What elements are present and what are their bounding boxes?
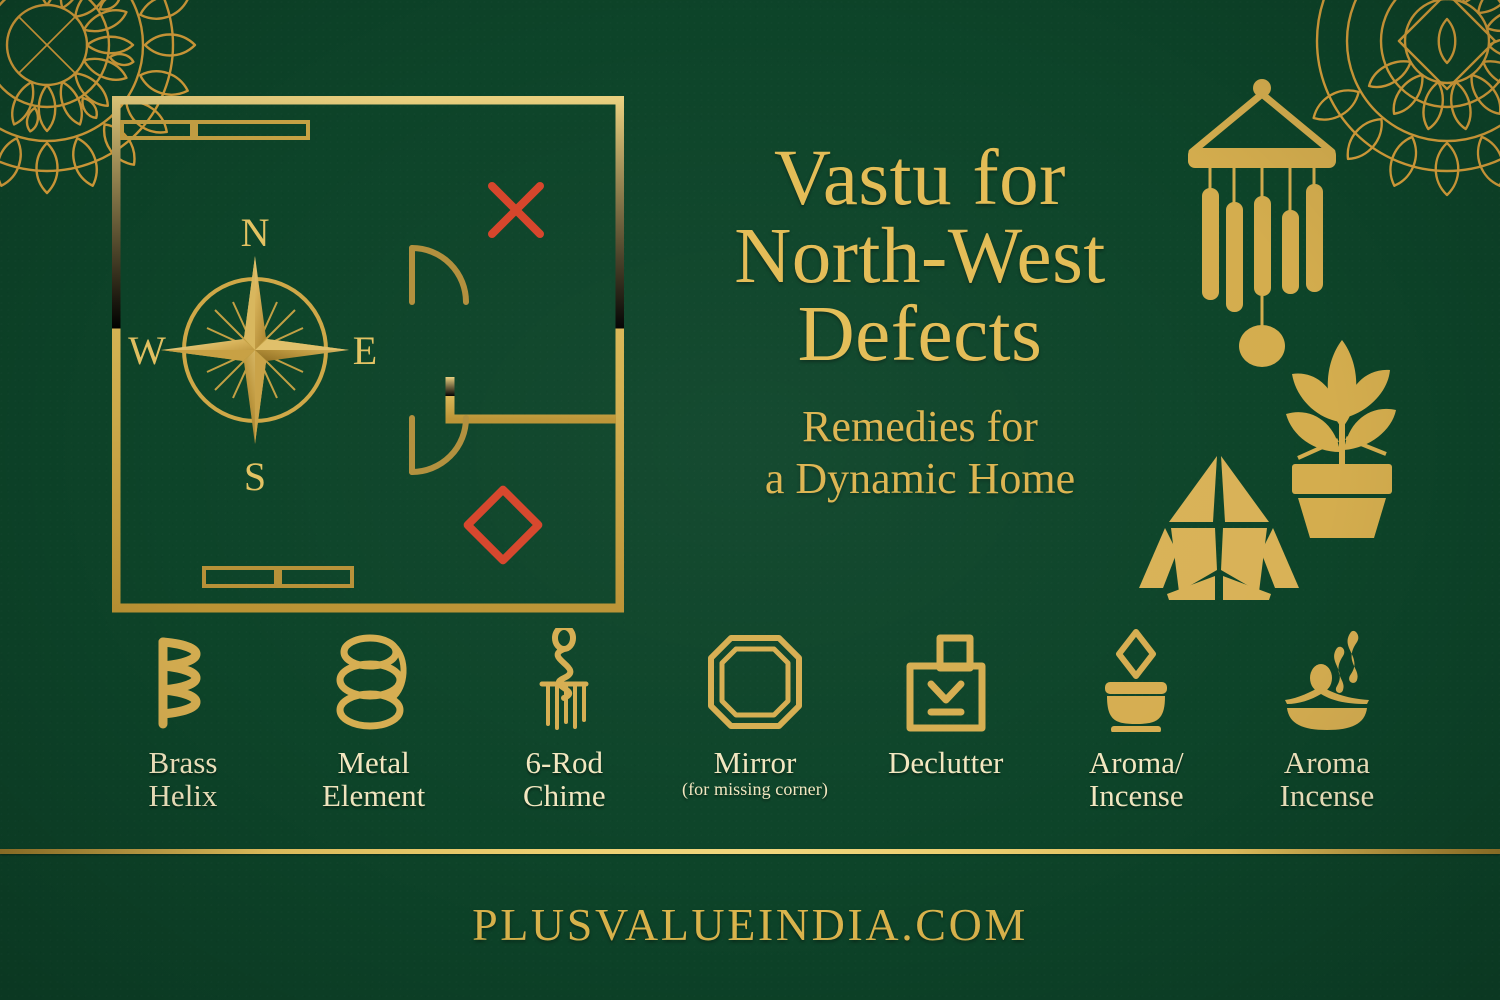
remedy-item-aroma-incense-lamp[interactable]: Aroma Incense [1234, 628, 1420, 812]
subtitle-line-2: a Dynamic Home [660, 453, 1180, 505]
remedy-label-line-1: Declutter [888, 745, 1003, 780]
remedy-label-line-2: Chime [523, 779, 606, 812]
remedy-label-line-1: Aroma [1284, 745, 1370, 780]
subtitle-line-1: Remedies for [660, 401, 1180, 453]
defect-diamond-marker [468, 490, 539, 561]
remedy-label-line-1: Metal [337, 745, 409, 780]
remedy-label: Aroma/ Incense [1089, 746, 1184, 812]
page-subtitle: Remedies for a Dynamic Home [660, 401, 1180, 505]
plan-window-top [122, 122, 308, 138]
wind-chime-icon [526, 628, 602, 732]
remedy-label-line-1: Brass [149, 745, 218, 780]
compass-rose: N S W E [128, 210, 377, 499]
remedy-item-declutter[interactable]: Declutter [853, 628, 1039, 779]
remedy-label: Aroma Incense [1280, 746, 1375, 812]
remedy-label: Brass Helix [149, 746, 218, 812]
remedy-label-line-1: Aroma/ [1089, 745, 1184, 780]
remedy-item-six-rod-chime[interactable]: 6-Rod Chime [471, 628, 657, 812]
plan-door-swings [412, 248, 466, 472]
remedy-label-line-2: Element [322, 779, 425, 812]
compass-label-west: W [128, 328, 166, 373]
page-title: Vastu for North-West Defects [660, 140, 1180, 375]
compass-label-south: S [244, 454, 266, 499]
brass-helix-icon [137, 628, 229, 732]
declutter-bag-icon [898, 628, 994, 732]
aroma-lamp-icon [1277, 628, 1377, 732]
remedy-label-line-2: Incense [1089, 779, 1184, 812]
title-line-2: North-West [660, 218, 1180, 296]
remedy-icon-strip: Brass Helix Metal Element [90, 628, 1420, 812]
remedy-item-aroma-incense-burner[interactable]: Aroma/ Incense [1043, 628, 1229, 812]
remedy-label: Metal Element [322, 746, 425, 812]
floor-plan-diagram: N S W E [112, 96, 624, 621]
defect-cross-marker [492, 186, 540, 234]
remedy-label: 6-Rod Chime [523, 746, 606, 812]
metal-coil-icon [326, 628, 422, 732]
remedy-label: Mirror (for missing corner) [682, 746, 828, 799]
remedy-label-line-2: Helix [149, 779, 218, 812]
incense-burner-icon [1093, 628, 1179, 732]
compass-label-north: N [241, 210, 270, 255]
compass-label-east: E [353, 328, 377, 373]
title-line-3: Defects [660, 296, 1180, 374]
plan-window-bottom [204, 568, 352, 586]
title-line-1: Vastu for [660, 140, 1180, 218]
remedy-item-brass-helix[interactable]: Brass Helix [90, 628, 276, 812]
infographic-canvas: N S W E Vastu for North-West Defects Rem… [0, 0, 1500, 1000]
remedy-item-mirror[interactable]: Mirror (for missing corner) [662, 628, 848, 799]
headline-block: Vastu for North-West Defects Remedies fo… [660, 140, 1180, 504]
remedy-label: Declutter [888, 746, 1003, 779]
remedy-label-note: (for missing corner) [682, 780, 828, 799]
pyramid-illustration-icon [1133, 452, 1303, 609]
remedy-label-line-2: Incense [1280, 779, 1375, 812]
mirror-icon [705, 628, 805, 732]
gold-divider-line [0, 849, 1500, 854]
footer-website: PLUSVALUEINDIA.COM [0, 898, 1500, 951]
remedy-label-line-1: 6-Rod [526, 745, 604, 780]
remedy-label-line-1: Mirror [714, 745, 797, 780]
remedy-item-metal-element[interactable]: Metal Element [281, 628, 467, 812]
